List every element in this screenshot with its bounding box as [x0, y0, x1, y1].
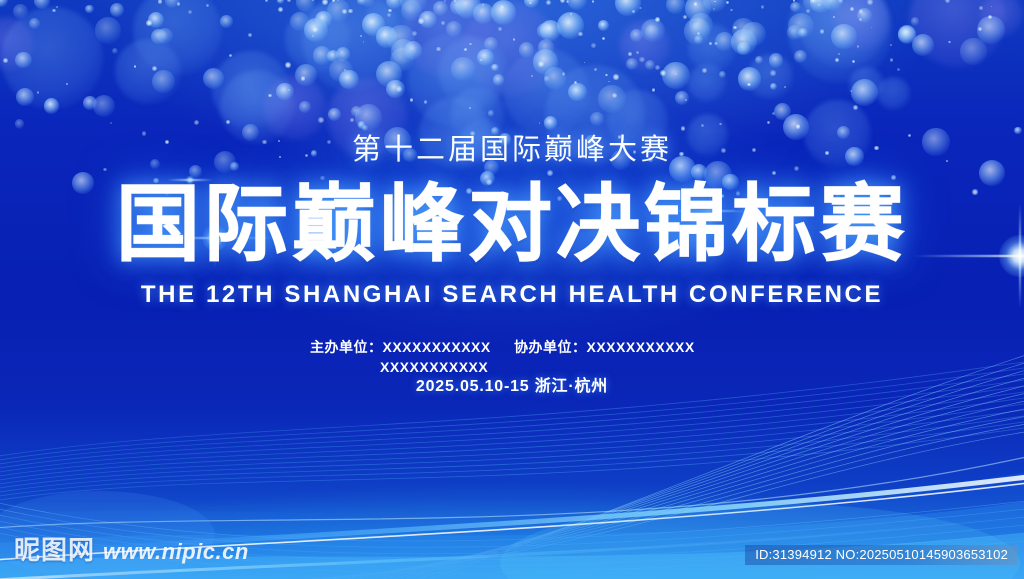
bokeh-spark — [772, 112, 775, 115]
bokeh-spark — [747, 83, 750, 86]
english-title: THE 12TH SHANGHAI SEARCH HEALTH CONFEREN… — [0, 281, 1024, 309]
bokeh-spark — [639, 57, 644, 62]
bokeh-circle — [598, 85, 626, 113]
event-subtitle: 第十二届国际巅峰大赛 — [0, 126, 1024, 168]
bokeh-spark — [194, 120, 199, 125]
bokeh-circle — [738, 67, 762, 91]
bokeh-circle — [336, 47, 350, 61]
bokeh-circle — [851, 79, 878, 106]
bokeh-circle — [0, 0, 8, 7]
bokeh-circle — [790, 2, 801, 13]
bokeh-spark — [702, 68, 707, 73]
bokeh-circle — [110, 3, 125, 18]
bokeh-spark — [500, 5, 504, 9]
bokeh-circle — [662, 62, 689, 89]
bokeh-spark — [733, 26, 736, 29]
bokeh-spark — [482, 4, 484, 6]
bokeh-spark — [287, 0, 291, 2]
bokeh-circle — [519, 42, 535, 58]
bokeh-spark — [52, 9, 56, 13]
bokeh-spark — [464, 48, 467, 51]
bokeh-spark — [152, 66, 157, 71]
bokeh-spark — [513, 38, 516, 41]
bokeh-circle — [769, 53, 783, 67]
bokeh-spark — [177, 2, 180, 5]
bokeh-spark — [188, 10, 192, 14]
bokeh-circle — [666, 0, 685, 14]
bokeh-circle — [93, 95, 115, 117]
bokeh-circle — [295, 64, 317, 86]
bokeh-spark — [469, 43, 472, 46]
bokeh-spark — [332, 0, 335, 2]
bokeh-circle — [15, 52, 31, 68]
bokeh-spark — [591, 43, 596, 48]
bokeh-spark — [833, 16, 835, 18]
bokeh-spark — [248, 33, 252, 37]
bokeh-circle — [568, 83, 587, 102]
bokeh-circle — [598, 20, 609, 31]
bokeh-spark — [660, 70, 666, 76]
bokeh-circle — [313, 46, 332, 65]
bokeh-circle — [567, 0, 587, 10]
bokeh-spark — [655, 65, 660, 70]
bokeh-spark — [772, 171, 776, 175]
bokeh-circle — [277, 0, 284, 4]
bokeh-circle — [85, 5, 93, 13]
bokeh-spark — [726, 1, 729, 4]
bokeh-circle — [203, 68, 224, 89]
bokeh-spark — [318, 117, 324, 123]
bokeh-spark — [639, 7, 641, 9]
organizer-row: 主办单位：XXXXXXXXXXX 协办单位：XXXXXXXXXXX XXXXXX… — [0, 324, 1024, 340]
bokeh-spark — [436, 47, 441, 52]
bokeh-circle — [794, 50, 807, 63]
bokeh-spark — [945, 0, 950, 3]
bokeh-circle — [115, 39, 181, 105]
bokeh-spark — [655, 17, 660, 22]
bokeh-spark — [350, 118, 354, 122]
bokeh-circle — [898, 25, 916, 43]
bokeh-spark — [146, 20, 152, 26]
bokeh-circle — [731, 29, 757, 55]
bokeh-circle — [44, 98, 59, 113]
bokeh-circle — [328, 108, 341, 121]
bokeh-circle — [362, 13, 385, 36]
bokeh-spark — [867, 0, 873, 5]
bokeh-spark — [388, 9, 391, 12]
bokeh-spark — [110, 122, 112, 124]
bokeh-spark — [584, 62, 586, 64]
bokeh-spark — [562, 72, 565, 75]
bokeh-spark — [103, 168, 107, 172]
bokeh-spark — [602, 37, 605, 40]
conference-banner-poster: 第十二届国际巅峰大赛 国际巅峰对决锦标赛 THE 12TH SHANGHAI S… — [0, 0, 1024, 579]
bokeh-spark — [301, 76, 305, 80]
bokeh-circle — [675, 91, 689, 105]
bokeh-circle — [488, 110, 495, 117]
bokeh-spark — [265, 0, 268, 2]
page-title: 国际巅峰对决锦标赛 — [0, 178, 1024, 270]
bokeh-spark — [852, 60, 855, 63]
bokeh-spark — [538, 61, 544, 67]
bokeh-spark — [469, 107, 471, 109]
bokeh-spark — [396, 86, 402, 92]
bokeh-circle — [615, 0, 641, 16]
bokeh-spark — [897, 68, 900, 71]
bokeh-spark — [592, 0, 594, 2]
bokeh-spark — [348, 9, 352, 13]
bokeh-spark — [66, 83, 68, 85]
bokeh-spark — [683, 15, 687, 19]
bokeh-spark — [730, 9, 733, 12]
bokeh-circle — [491, 64, 499, 72]
date-location-line: 2025.05.10-15 浙江·杭州 — [0, 372, 1024, 396]
bokeh-spark — [560, 0, 565, 3]
bokeh-spark — [652, 88, 656, 92]
bokeh-circle — [339, 70, 359, 90]
bokeh-spark — [612, 93, 617, 98]
bokeh-spark — [890, 58, 893, 61]
bokeh-spark — [850, 90, 852, 92]
co-organizer-label: 协办单位：XXXXXXXXXXX — [514, 337, 695, 357]
bokeh-circle — [533, 49, 558, 74]
bokeh-spark — [613, 74, 619, 80]
bokeh-spark — [628, 52, 632, 56]
bokeh-circle — [719, 71, 726, 78]
bokeh-spark — [578, 32, 583, 37]
bokeh-spark — [285, 62, 291, 68]
bokeh-circle — [544, 76, 550, 82]
bokeh-circle — [404, 41, 422, 59]
bokeh-circle — [276, 83, 294, 101]
bokeh-spark — [838, 0, 843, 3]
bokeh-spark — [694, 2, 698, 6]
bokeh-spark — [632, 10, 635, 13]
bokeh-circle — [641, 19, 665, 43]
bokeh-spark — [363, 41, 365, 43]
bokeh-spark — [793, 0, 796, 2]
bokeh-spark — [761, 5, 765, 9]
bokeh-circle — [13, 4, 28, 19]
bokeh-spark — [158, 0, 162, 4]
bokeh-spark — [268, 94, 272, 98]
bokeh-spark — [278, 7, 283, 12]
bokeh-spark — [418, 18, 423, 23]
bokeh-circle — [351, 106, 361, 116]
bokeh-circle — [831, 24, 857, 50]
image-id-badge: ID:31394912 NO:20250510145903653102 — [745, 545, 1018, 565]
bokeh-circle — [95, 17, 121, 43]
host-organizer-label: 主办单位：XXXXXXXXXXX — [310, 337, 491, 357]
bokeh-spark — [594, 68, 597, 71]
bokeh-spark — [979, 6, 982, 9]
bokeh-spark — [709, 42, 712, 45]
bokeh-circle — [220, 15, 233, 28]
bokeh-circle — [493, 74, 504, 85]
bokeh-spark — [574, 81, 577, 84]
bokeh-spark — [818, 4, 820, 6]
bokeh-circle — [787, 25, 802, 40]
bokeh-circle — [477, 49, 494, 66]
bokeh-circle — [112, 48, 118, 54]
bokeh-circle — [960, 38, 986, 64]
bokeh-spark — [767, 121, 770, 124]
bokeh-spark — [835, 58, 839, 62]
bokeh-spark — [3, 58, 8, 63]
bokeh-circle — [451, 57, 475, 81]
bokeh-spark — [636, 51, 639, 54]
bokeh-spark — [547, 170, 553, 176]
bokeh-spark — [890, 44, 892, 46]
bokeh-spark — [546, 0, 551, 5]
bokeh-spark — [529, 2, 532, 5]
bokeh-circle — [626, 58, 638, 70]
bokeh-circle — [152, 70, 175, 93]
bokeh-spark — [770, 70, 776, 76]
